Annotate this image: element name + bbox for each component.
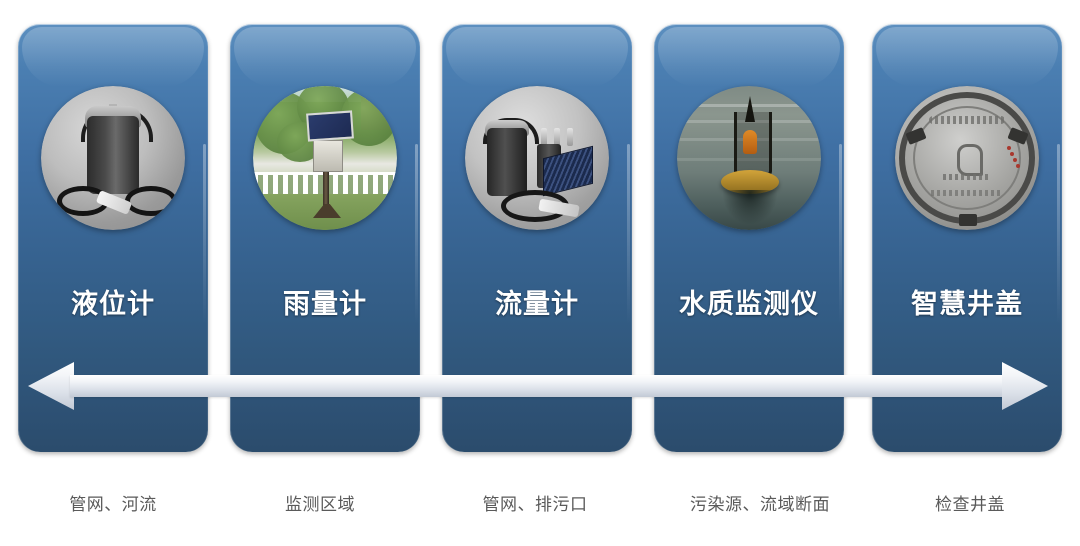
manhole-sub-text (943, 174, 991, 180)
device-card-rain-gauge[interactable]: 雨量计 (230, 24, 420, 452)
manhole-marker-dots (1007, 146, 1021, 168)
device-card-flow-meter[interactable]: 流量计 (442, 24, 632, 452)
caption-rain-gauge: 监测区域 (210, 490, 430, 515)
card-title-flow-meter: 流量计 (442, 282, 632, 321)
water-reflection (723, 190, 777, 224)
buoy-lamp (743, 130, 757, 154)
card-title-rain-gauge: 雨量计 (230, 282, 420, 321)
card-title-smart-manhole-cover: 智慧井盖 (872, 282, 1062, 321)
manhole-top-text (929, 116, 1005, 124)
device-card-water-quality-monitor[interactable]: 水质监测仪 (654, 24, 844, 452)
device-cards-row: 液位计 雨量计 (0, 0, 1080, 470)
solar-panel-icon (306, 110, 354, 141)
rain-gauge-photo (253, 86, 397, 230)
level-gauge-photo (41, 86, 185, 230)
caption-row: 管网、河流 监测区域 管网、排污口 污染源、流域断面 检查井盖 (0, 470, 1080, 546)
level-gauge-body (87, 116, 139, 194)
diagram-canvas: 液位计 雨量计 (0, 0, 1080, 546)
caption-flow-meter: 管网、排污口 (425, 490, 645, 515)
card-title-water-quality-monitor: 水质监测仪 (654, 282, 844, 321)
manhole-lug (959, 214, 977, 226)
smart-manhole-cover-photo (895, 86, 1039, 230)
flow-meter-photo (465, 86, 609, 230)
level-gauge-cable-right (125, 186, 177, 216)
manhole-bottom-text (931, 190, 1003, 196)
flow-meter-body (487, 128, 527, 196)
card-title-level-gauge: 液位计 (18, 282, 208, 321)
water-quality-buoy-photo (677, 86, 821, 230)
caption-smart-manhole-cover: 检查井盖 (860, 490, 1080, 515)
device-card-smart-manhole-cover[interactable]: 智慧井盖 (872, 24, 1062, 452)
rain-gauge-enclosure (313, 140, 343, 172)
device-card-level-gauge[interactable]: 液位计 (18, 24, 208, 452)
manhole-logo-icon (957, 144, 983, 176)
caption-level-gauge: 管网、河流 (3, 490, 223, 515)
caption-water-quality-monitor: 污染源、流域断面 (650, 490, 870, 515)
